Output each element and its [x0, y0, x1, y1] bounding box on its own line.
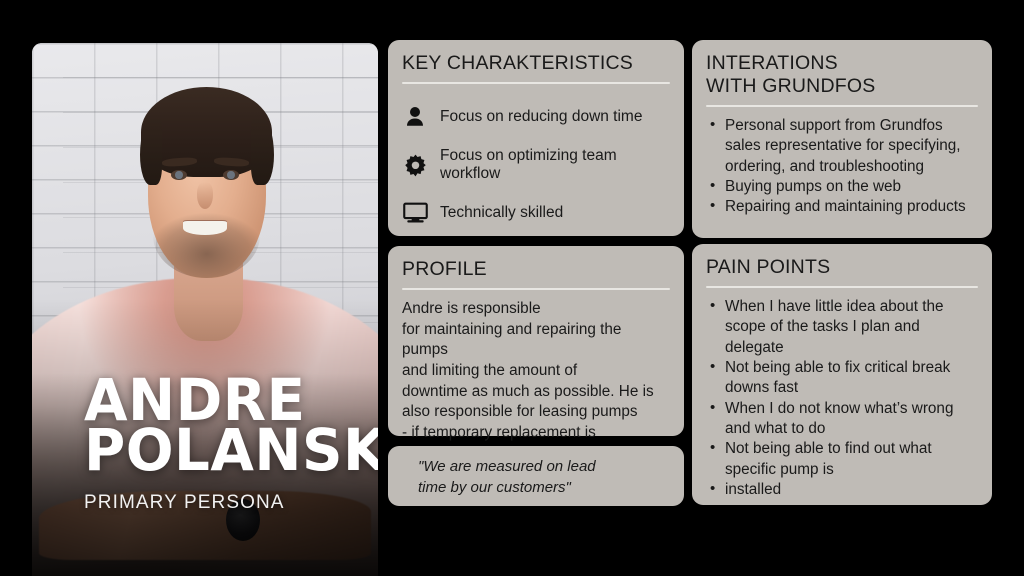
divider — [706, 286, 978, 288]
characteristics-list: Focus on reducing down time Focus on opt… — [402, 93, 670, 237]
divider — [402, 82, 670, 84]
card-pain-points: PAIN POINTS When I have little idea abou… — [692, 244, 992, 505]
persona-last-name: POLANSKI — [84, 426, 378, 476]
persona-photo: ANDRE POLANSKI PRIMARY PERSONA — [32, 43, 378, 576]
divider — [706, 105, 978, 107]
person-icon — [402, 106, 428, 128]
card-profile: PROFILE Andre is responsible for maintai… — [388, 246, 684, 436]
card-title-interactions: INTERATIONS WITH GRUNDFOS — [706, 52, 978, 98]
monitor-icon — [402, 202, 428, 224]
list-item: Technically skilled — [402, 189, 670, 237]
card-title-pain-points: PAIN POINTS — [706, 256, 978, 279]
pain-points-bullet-list: When I have little idea about the scope … — [706, 297, 978, 500]
profile-body-text: Andre is responsible for maintaining and… — [402, 299, 670, 464]
list-item: Not being able to fix critical break dow… — [706, 358, 978, 399]
list-item-label: Focus on reducing down time — [440, 108, 642, 126]
divider — [402, 288, 670, 290]
card-quote: "We are measured on lead time by our cus… — [388, 446, 684, 506]
card-key-characteristics: KEY CHARAKTERISTICS Focus on reducing do… — [388, 40, 684, 236]
list-item: Not being able to find out what specific… — [706, 439, 978, 480]
card-title-profile: PROFILE — [402, 258, 670, 281]
card-title-characteristics: KEY CHARAKTERISTICS — [402, 52, 670, 75]
card-interactions-with-grundfos: INTERATIONS WITH GRUNDFOS Personal suppo… — [692, 40, 992, 238]
interactions-bullet-list: Personal support from Grundfos sales rep… — [706, 116, 978, 218]
list-item: installed — [706, 480, 978, 500]
list-item-label: Technically skilled — [440, 204, 563, 222]
list-item: Focus on optimizing team workflow — [402, 141, 670, 189]
list-item: Focus on reducing down time — [402, 93, 670, 141]
gear-icon — [402, 154, 428, 177]
list-item: When I do not know what’s wrong and what… — [706, 399, 978, 440]
persona-name-block: ANDRE POLANSKI PRIMARY PERSONA — [84, 376, 378, 514]
quote-text: "We are measured on lead time by our cus… — [402, 456, 596, 499]
list-item: Personal support from Grundfos sales rep… — [706, 116, 978, 177]
list-item-label: Focus on optimizing team workflow — [440, 147, 670, 183]
list-item: When I have little idea about the scope … — [706, 297, 978, 358]
list-item: Buying pumps on the web — [706, 177, 978, 197]
list-item: Repairing and maintaining products — [706, 197, 978, 217]
persona-role-label: PRIMARY PERSONA — [84, 492, 378, 514]
